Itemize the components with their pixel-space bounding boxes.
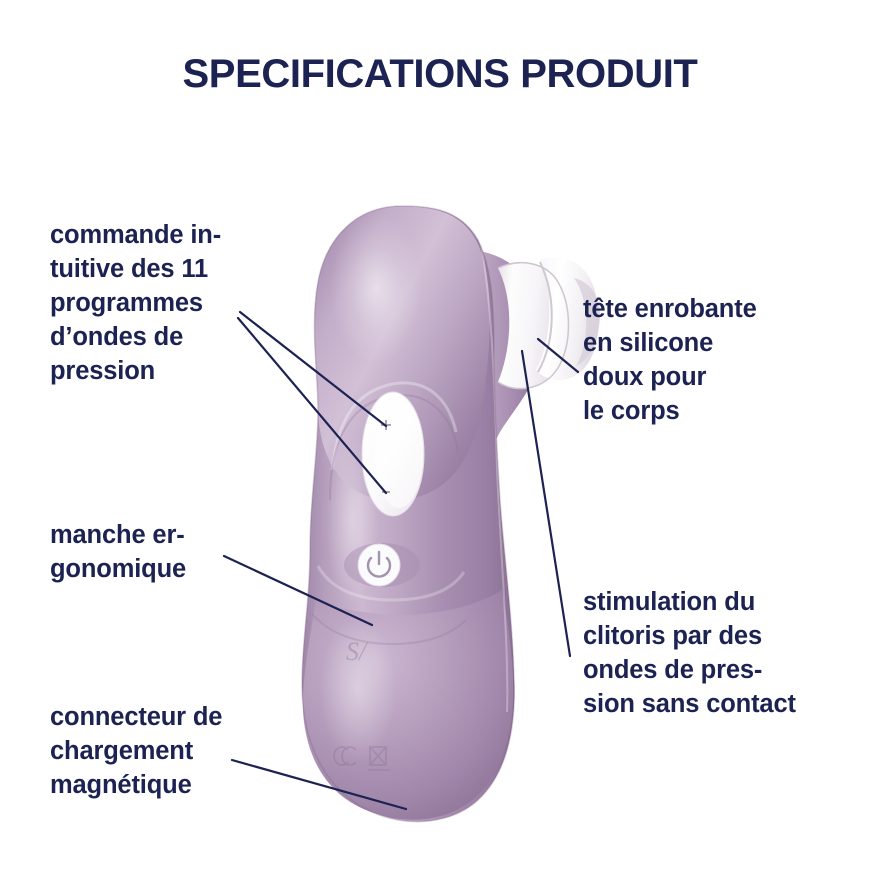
callout-head: tête enrobante en silicone doux pour le … (583, 292, 863, 428)
body-highlight-upper (330, 212, 422, 364)
leader-line-stimulation (522, 351, 570, 656)
specification-infographic: SPECIFICATIONS PRODUIT (0, 0, 880, 880)
callout-handle: manche er- gonomique (50, 518, 290, 586)
callout-stimulation: stimulation du clitoris par des ondes de… (583, 585, 873, 721)
callout-charging: connecteur de chargement magnétique (50, 700, 312, 802)
callout-controls: commande in- tuitive des 11 programmes d… (50, 218, 290, 388)
brand-logo-emboss: S/ (346, 637, 369, 666)
